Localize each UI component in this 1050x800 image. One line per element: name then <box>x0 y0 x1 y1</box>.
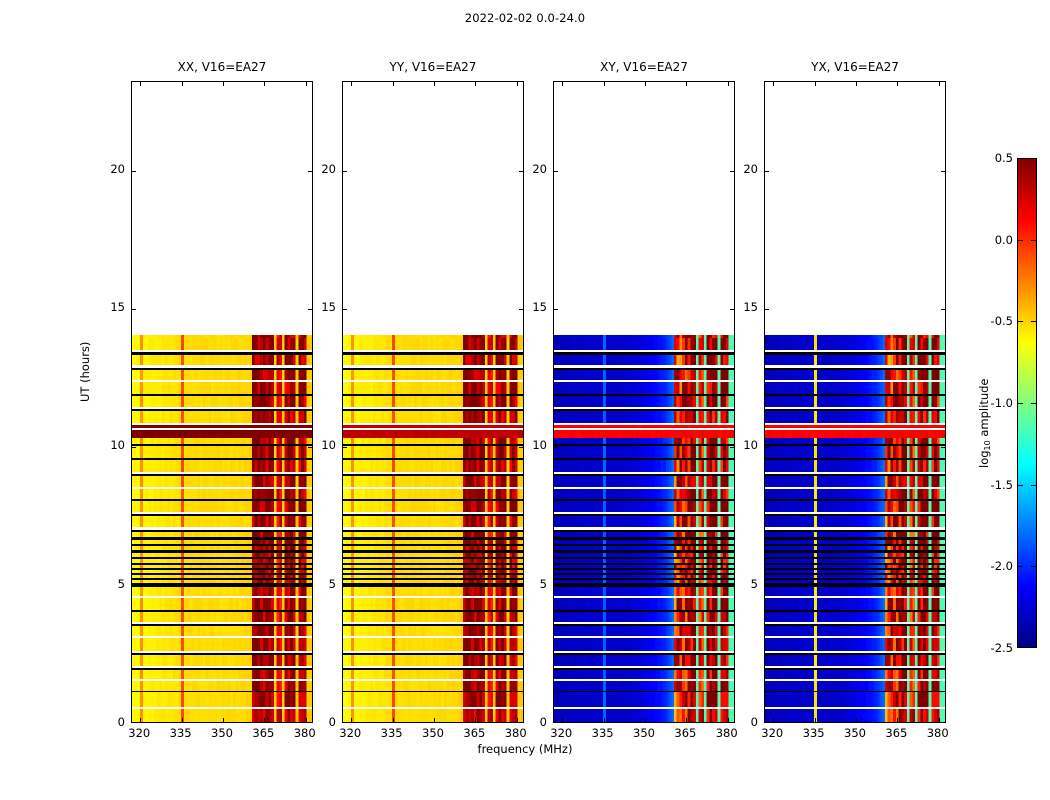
heatmap-row <box>132 707 312 708</box>
heatmap-row <box>132 516 312 527</box>
y-tick-label: 0 <box>501 717 547 728</box>
heatmap-row <box>765 557 945 560</box>
heatmap-row <box>132 425 312 428</box>
heatmap-row <box>554 472 734 474</box>
heatmap-row <box>554 585 734 587</box>
colorbar-tick-label: -2.0 <box>975 559 1013 573</box>
heatmap-row <box>343 370 523 380</box>
heatmap-row <box>554 679 734 681</box>
y-tick-label: 5 <box>501 579 547 590</box>
heatmap-row <box>132 559 312 563</box>
x-tick <box>686 82 687 86</box>
heatmap-row <box>343 596 523 598</box>
heatmap-image-xy <box>554 335 734 722</box>
heatmap-row <box>765 396 945 407</box>
heatmap-row <box>765 636 945 638</box>
heatmap-row <box>554 352 734 354</box>
heatmap-row <box>132 365 312 367</box>
x-tick <box>562 718 563 722</box>
heatmap-row <box>343 583 523 585</box>
heatmap-row <box>343 565 523 568</box>
heatmap-row <box>132 568 312 570</box>
x-tick <box>182 82 183 86</box>
heatmap-row <box>765 411 945 423</box>
y-tick <box>941 586 945 587</box>
heatmap-row <box>554 438 734 444</box>
heatmap-row <box>343 446 523 458</box>
heatmap-row <box>343 396 523 407</box>
heatmap-row <box>765 460 945 472</box>
heatmap-row <box>132 622 312 624</box>
panel-title-yy: YY, V16=EA27 <box>343 60 523 74</box>
heatmap-row <box>554 474 734 476</box>
heatmap-row <box>765 370 945 380</box>
heatmap-row <box>765 407 945 409</box>
x-tick <box>897 82 898 86</box>
heatmap-row <box>765 476 945 486</box>
heatmap-row <box>554 380 734 382</box>
heatmap-row <box>765 622 945 624</box>
heatmap-row <box>343 394 523 396</box>
heatmap-row <box>343 487 523 489</box>
heatmap-row <box>343 460 523 472</box>
x-axis-title: frequency (MHz) <box>0 742 1050 756</box>
x-tick <box>434 718 435 722</box>
heatmap-row <box>343 368 523 370</box>
x-tick <box>645 718 646 722</box>
heatmap-row <box>554 626 734 636</box>
heatmap-row <box>132 583 312 585</box>
heatmap-row <box>554 396 734 407</box>
heatmap-row <box>765 532 945 536</box>
heatmap-row <box>343 622 523 624</box>
heatmap-row <box>343 458 523 460</box>
heatmap-row <box>554 423 734 425</box>
panel-xy[interactable]: XY, V16=EA27 <box>553 81 735 723</box>
heatmap-row <box>343 691 523 692</box>
heatmap-row <box>554 446 734 458</box>
heatmap-row <box>132 499 312 501</box>
x-tick <box>939 718 940 722</box>
heatmap-row <box>554 527 734 530</box>
heatmap-row <box>554 666 734 668</box>
heatmap-row <box>343 651 523 653</box>
heatmap-row <box>343 587 523 596</box>
heatmap-row <box>343 598 523 610</box>
heatmap-row <box>132 544 312 547</box>
x-tick <box>728 82 729 86</box>
heatmap-row <box>343 578 523 580</box>
heatmap-row <box>343 585 523 587</box>
heatmap-row <box>132 350 312 352</box>
heatmap-row <box>343 550 523 553</box>
y-tick-label: 0 <box>712 717 758 728</box>
heatmap-row <box>343 707 523 708</box>
x-tick <box>773 82 774 86</box>
heatmap-row <box>765 638 945 651</box>
heatmap-row <box>554 587 734 596</box>
x-tick <box>475 718 476 722</box>
heatmap-row <box>132 514 312 516</box>
heatmap-row <box>343 444 523 446</box>
y-tick-label: 20 <box>501 164 547 175</box>
heatmap-row <box>765 472 945 474</box>
heatmap-row <box>554 382 734 394</box>
heatmap-row <box>132 532 312 536</box>
x-tick <box>604 82 605 86</box>
heatmap-row <box>765 565 945 568</box>
heatmap-row <box>343 563 523 565</box>
heatmap-row <box>554 681 734 691</box>
heatmap-row <box>343 573 523 575</box>
heatmap-row <box>343 546 523 550</box>
heatmap-row <box>343 430 523 437</box>
heatmap-row <box>343 553 523 557</box>
heatmap-row <box>554 651 734 653</box>
heatmap-row <box>765 585 945 587</box>
heatmap-row <box>343 544 523 547</box>
heatmap-row <box>554 692 734 707</box>
heatmap-row <box>343 355 523 366</box>
heatmap-row <box>765 668 945 670</box>
heatmap-row <box>343 411 523 423</box>
heatmap-row <box>554 546 734 550</box>
heatmap-row <box>765 458 945 460</box>
y-tick <box>343 447 347 448</box>
heatmap-row <box>554 430 734 437</box>
heatmap-row <box>765 499 945 501</box>
heatmap-row <box>343 476 523 486</box>
heatmap-row <box>765 651 945 653</box>
heatmap-row <box>132 580 312 583</box>
heatmap-row <box>765 355 945 366</box>
x-tick <box>223 82 224 86</box>
x-tick <box>897 718 898 722</box>
heatmap-row <box>132 670 312 679</box>
heatmap-row <box>132 370 312 380</box>
y-tick-label: 10 <box>290 440 336 451</box>
heatmap-image-xx <box>132 335 312 722</box>
heatmap-row <box>765 624 945 626</box>
heatmap-row <box>554 653 734 655</box>
heatmap-row <box>765 428 945 430</box>
heatmap-row <box>132 612 312 622</box>
heatmap-row <box>132 368 312 370</box>
heatmap-row <box>343 527 523 530</box>
heatmap-row <box>765 487 945 489</box>
heatmap-row <box>765 575 945 578</box>
heatmap-row <box>554 355 734 366</box>
x-tick <box>517 82 518 86</box>
heatmap-row <box>765 444 945 446</box>
x-tick <box>264 82 265 86</box>
heatmap-row <box>765 335 945 338</box>
heatmap-row <box>343 653 523 655</box>
heatmap-row <box>343 512 523 514</box>
heatmap-row <box>554 670 734 679</box>
x-tick <box>686 718 687 722</box>
heatmap-row <box>554 575 734 578</box>
heatmap-row <box>132 476 312 486</box>
panel-xx[interactable]: XX, V16=EA27 <box>131 81 313 723</box>
colorbar-tick <box>1031 566 1036 567</box>
heatmap-row <box>343 338 523 350</box>
heatmap-row <box>132 489 312 500</box>
heatmap-row <box>765 553 945 557</box>
colorbar-tick-label: -2.5 <box>975 641 1013 655</box>
plot-area-xy <box>554 82 734 722</box>
heatmap-row <box>343 530 523 533</box>
heatmap-row <box>343 666 523 668</box>
panel-title-xy: XY, V16=EA27 <box>554 60 734 74</box>
panel-yx[interactable]: YX, V16=EA27 <box>764 81 946 723</box>
colorbar-tick-label: -1.5 <box>975 478 1013 492</box>
heatmap-row <box>132 444 312 446</box>
x-tick <box>140 82 141 86</box>
y-tick <box>765 171 769 172</box>
heatmap-row <box>343 350 523 352</box>
heatmap-row <box>554 578 734 580</box>
colorbar-tick <box>1018 566 1023 567</box>
heatmap-row <box>132 596 312 598</box>
y-tick <box>132 447 136 448</box>
heatmap-row <box>765 612 945 622</box>
y-tick <box>941 309 945 310</box>
heatmap-row <box>554 516 734 527</box>
y-tick-label: 15 <box>712 302 758 313</box>
heatmap-row <box>343 610 523 612</box>
heatmap-row <box>554 460 734 472</box>
heatmap-row <box>343 407 523 409</box>
heatmap-row <box>132 587 312 596</box>
heatmap-row <box>343 668 523 670</box>
heatmap-row <box>554 557 734 560</box>
heatmap-row <box>132 610 312 612</box>
heatmap-row <box>554 532 734 536</box>
heatmap-row <box>554 530 734 533</box>
heatmap-row <box>765 365 945 367</box>
heatmap-row <box>343 575 523 578</box>
heatmap-row <box>343 516 523 527</box>
heatmap-row <box>343 499 523 501</box>
y-tick <box>343 171 347 172</box>
heatmap-row <box>765 580 945 583</box>
heatmap-row <box>132 446 312 458</box>
heatmap-row <box>765 382 945 394</box>
plot-area-yx <box>765 82 945 722</box>
heatmap-row <box>343 626 523 636</box>
y-tick <box>554 447 558 448</box>
y-tick-label: 15 <box>290 302 336 313</box>
heatmap-row <box>765 653 945 655</box>
heatmap-row <box>765 514 945 516</box>
y-tick-label: 10 <box>79 440 125 451</box>
y-tick <box>343 309 347 310</box>
y-tick-label: 5 <box>290 579 336 590</box>
y-tick <box>343 586 347 587</box>
heatmap-row <box>765 438 945 444</box>
heatmap-row <box>132 512 312 514</box>
heatmap-row <box>343 679 523 681</box>
heatmap-row <box>132 472 312 474</box>
y-tick <box>765 586 769 587</box>
heatmap-row <box>343 489 523 500</box>
colorbar-title-subscript: 10 <box>983 440 992 450</box>
heatmap-row <box>343 612 523 622</box>
heatmap-row <box>554 368 734 370</box>
heatmap-row <box>554 544 734 547</box>
panel-title-xx: XX, V16=EA27 <box>132 60 312 74</box>
heatmap-row <box>132 624 312 626</box>
heatmap-row <box>765 596 945 598</box>
x-tick <box>264 718 265 722</box>
heatmap-row <box>554 350 734 352</box>
y-tick-label: 20 <box>712 164 758 175</box>
heatmap-row <box>554 370 734 380</box>
y-tick-label: 5 <box>712 579 758 590</box>
colorbar-tick <box>1031 240 1036 241</box>
x-tick <box>182 718 183 722</box>
panel-yy[interactable]: YY, V16=EA27 <box>342 81 524 723</box>
heatmap-row <box>554 583 734 585</box>
heatmap-row <box>132 487 312 489</box>
heatmap-row <box>132 626 312 636</box>
heatmap-row <box>765 578 945 580</box>
heatmap-row <box>343 428 523 430</box>
plot-area-xx <box>132 82 312 722</box>
heatmap-row <box>554 499 734 501</box>
heatmap-row <box>132 527 312 530</box>
y-tick <box>765 447 769 448</box>
heatmap-row <box>765 501 945 512</box>
heatmap-row <box>132 598 312 610</box>
heatmap-row <box>132 578 312 580</box>
heatmap-row <box>765 512 945 514</box>
heatmap-row <box>554 338 734 350</box>
y-tick-label: 15 <box>79 302 125 313</box>
heatmap-row <box>765 423 945 425</box>
y-tick <box>554 586 558 587</box>
y-tick <box>941 447 945 448</box>
heatmap-row <box>343 624 523 626</box>
heatmap-row <box>343 474 523 476</box>
heatmap-row <box>765 583 945 585</box>
heatmap-row <box>765 655 945 666</box>
colorbar-title-pre: log <box>977 450 991 468</box>
x-tick <box>223 718 224 722</box>
y-tick-label: 10 <box>712 440 758 451</box>
heatmap-row <box>554 540 734 544</box>
heatmap-row <box>765 670 945 679</box>
heatmap-row <box>765 430 945 437</box>
heatmap-row <box>343 568 523 570</box>
heatmap-row <box>132 573 312 575</box>
heatmap-row <box>765 546 945 550</box>
heatmap-row <box>765 380 945 382</box>
x-tick <box>351 718 352 722</box>
heatmap-row <box>343 532 523 536</box>
heatmap-row <box>765 666 945 668</box>
heatmap-row <box>765 474 945 476</box>
heatmap-row <box>132 546 312 550</box>
heatmap-row <box>554 476 734 486</box>
heatmap-row <box>765 537 945 540</box>
heatmap-row <box>554 487 734 489</box>
heatmap-row <box>132 411 312 423</box>
heatmap-row <box>343 692 523 707</box>
y-tick-label: 0 <box>79 717 125 728</box>
heatmap-row <box>132 692 312 707</box>
y-tick-label: 5 <box>79 579 125 590</box>
heatmap-row <box>554 668 734 670</box>
heatmap-row <box>765 425 945 428</box>
heatmap-row <box>765 368 945 370</box>
heatmap-row <box>554 409 734 411</box>
heatmap-row <box>343 335 523 338</box>
heatmap-row <box>765 679 945 681</box>
heatmap-row <box>554 365 734 367</box>
heatmap-row <box>554 559 734 563</box>
x-tick <box>856 718 857 722</box>
x-tick-label: 380 <box>908 726 968 740</box>
heatmap-row <box>765 530 945 533</box>
x-tick <box>393 718 394 722</box>
heatmap-row <box>554 428 734 430</box>
heatmap-row <box>132 460 312 472</box>
y-tick-label: 0 <box>290 717 336 728</box>
heatmap-row <box>554 407 734 409</box>
x-tick <box>475 82 476 86</box>
heatmap-row <box>132 428 312 430</box>
heatmap-row <box>343 670 523 679</box>
heatmap-row <box>132 655 312 666</box>
heatmap-row <box>765 626 945 636</box>
y-tick <box>941 171 945 172</box>
heatmap-row <box>554 596 734 598</box>
heatmap-row <box>343 709 523 722</box>
x-tick <box>562 82 563 86</box>
heatmap-row <box>343 655 523 666</box>
heatmap-row <box>132 355 312 366</box>
heatmap-row <box>765 540 945 544</box>
heatmap-image-yy <box>343 335 523 722</box>
heatmap-row <box>343 382 523 394</box>
x-tick <box>939 82 940 86</box>
colorbar-tick-label: -0.5 <box>975 314 1013 328</box>
colorbar-tick <box>1031 403 1036 404</box>
heatmap-row <box>765 559 945 563</box>
x-tick <box>856 82 857 86</box>
x-tick <box>645 82 646 86</box>
heatmap-row <box>132 636 312 638</box>
colorbar-tick <box>1031 321 1036 322</box>
colorbar-tick <box>1018 321 1023 322</box>
heatmap-row <box>554 489 734 500</box>
heatmap-row <box>343 423 523 425</box>
heatmap-row <box>343 638 523 651</box>
heatmap-row <box>765 681 945 691</box>
heatmap-row <box>765 692 945 707</box>
heatmap-row <box>554 425 734 428</box>
heatmap-row <box>765 550 945 553</box>
heatmap-row <box>132 651 312 653</box>
heatmap-row <box>554 565 734 568</box>
heatmap-row <box>554 394 734 396</box>
heatmap-row <box>554 512 734 514</box>
heatmap-row <box>132 458 312 460</box>
heatmap-row <box>132 557 312 560</box>
heatmap-row <box>554 709 734 722</box>
